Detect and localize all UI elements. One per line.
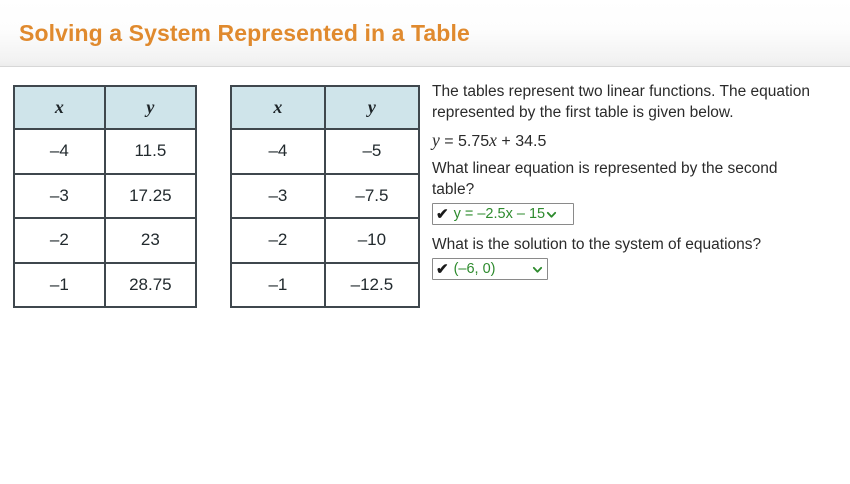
table-row: –4 –5 (231, 129, 419, 174)
cell-x: –3 (14, 174, 105, 219)
cell-x: –2 (14, 218, 105, 263)
table-row: –2 23 (14, 218, 196, 263)
correct-check-icon: ✔ (436, 262, 449, 277)
table-row: –3 17.25 (14, 174, 196, 219)
given-equation-lhs: y (432, 130, 440, 150)
intro-text-line-2: represented by the first table is given … (432, 102, 832, 123)
cell-x: –4 (231, 129, 325, 174)
cell-y: –10 (325, 218, 419, 263)
question-panel: The tables represent two linear function… (432, 81, 832, 283)
cell-y: 28.75 (105, 263, 196, 308)
cell-y: 17.25 (105, 174, 196, 219)
cell-x: –2 (231, 218, 325, 263)
cell-y: 23 (105, 218, 196, 263)
given-equation-rhs-after: + 34.5 (501, 133, 546, 150)
given-equation-variable: x (489, 130, 497, 150)
column-header-y: y (325, 86, 419, 129)
table-row: –1 –12.5 (231, 263, 419, 308)
content-area: x y –4 11.5 –3 17.25 –2 23 –1 28.75 (0, 67, 850, 484)
question-1-line-1: What linear equation is represented by t… (432, 158, 832, 179)
cell-y: –7.5 (325, 174, 419, 219)
correct-check-icon: ✔ (436, 207, 449, 222)
solution-answer-value: (–6, 0) (454, 262, 496, 277)
table-row: –4 11.5 (14, 129, 196, 174)
question-2: What is the solution to the system of eq… (432, 234, 832, 255)
page-header: Solving a System Represented in a Table (0, 0, 850, 67)
cell-x: –1 (231, 263, 325, 308)
table-row: –2 –10 (231, 218, 419, 263)
given-equation-rhs-before: = 5.75 (444, 133, 489, 150)
column-header-x: x (231, 86, 325, 129)
cell-y: –5 (325, 129, 419, 174)
table-header-row: x y (231, 86, 419, 129)
first-function-table: x y –4 11.5 –3 17.25 –2 23 –1 28.75 (13, 85, 197, 308)
question-1-line-2: table? (432, 179, 832, 200)
cell-x: –4 (14, 129, 105, 174)
solution-answer-dropdown[interactable]: ✔ (–6, 0) (432, 258, 548, 280)
second-function-table: x y –4 –5 –3 –7.5 –2 –10 –1 –12.5 (230, 85, 420, 308)
table-row: –1 28.75 (14, 263, 196, 308)
page-title: Solving a System Represented in a Table (19, 20, 470, 47)
equation-answer-value: y = –2.5x – 15 (454, 207, 546, 222)
cell-x: –3 (231, 174, 325, 219)
column-header-x: x (14, 86, 105, 129)
given-equation: y = 5.75x + 34.5 (432, 130, 832, 152)
cell-y: –12.5 (325, 263, 419, 308)
cell-x: –1 (14, 263, 105, 308)
equation-answer-dropdown[interactable]: ✔ y = –2.5x – 15 (432, 203, 574, 225)
column-header-y: y (105, 86, 196, 129)
intro-text-line-1: The tables represent two linear function… (432, 81, 832, 102)
cell-y: 11.5 (105, 129, 196, 174)
chevron-down-icon (532, 264, 543, 275)
table-header-row: x y (14, 86, 196, 129)
chevron-down-icon (546, 209, 557, 220)
table-row: –3 –7.5 (231, 174, 419, 219)
